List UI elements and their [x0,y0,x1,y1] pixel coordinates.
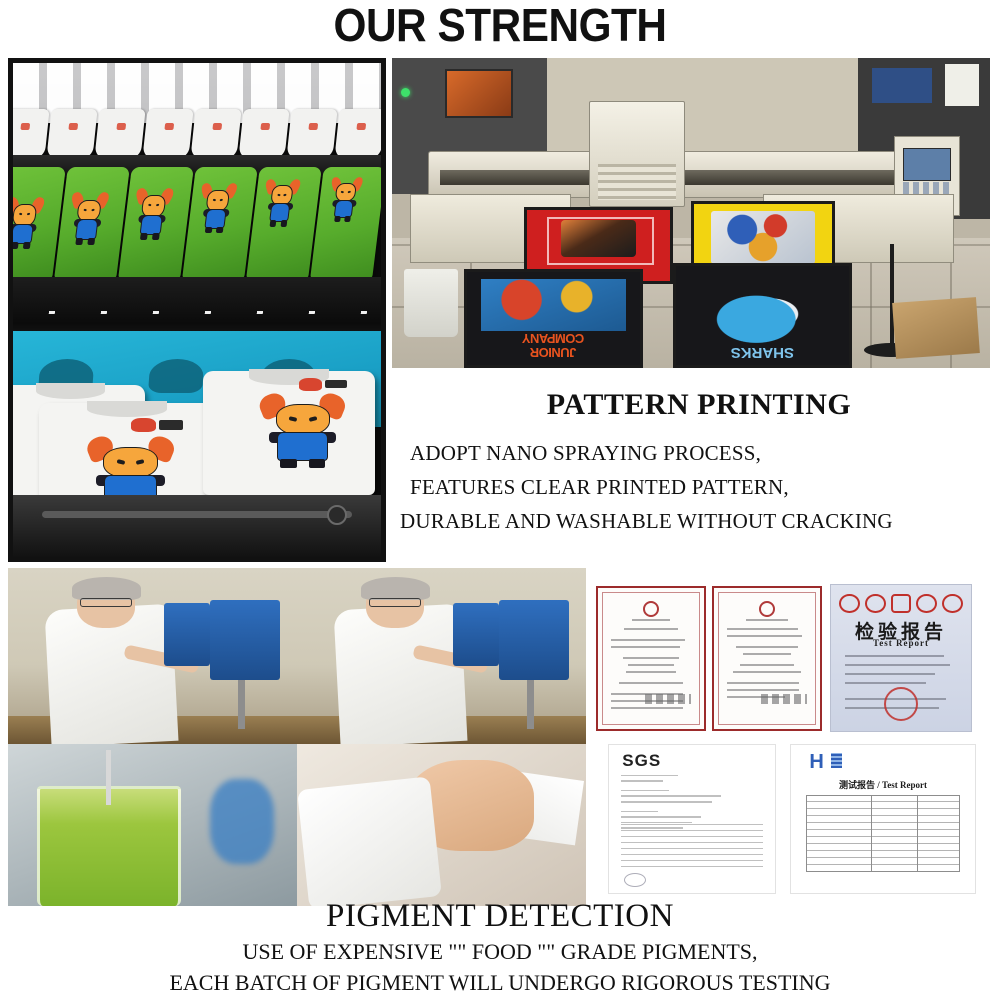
pattern-printing-heading: PATTERN PRINTING [400,388,998,422]
certificate-test-report: 检验报告 Test Report [830,584,972,732]
bull-mascot-icon [135,187,172,236]
certificate-iso-cn [596,586,706,731]
badge-cal-icon [942,594,963,613]
h-report-title: 测试报告 / Test Report [791,778,975,791]
lab-photo-scientist-2 [297,568,586,744]
shirt-white [142,109,193,159]
certificate-h-report: H 测试报告 / Test Report [790,744,976,894]
bull-mascot-icon [265,393,341,462]
platen-junior-company-shirt: JUNIORCOMPANY [464,269,643,368]
photo-shirt-carousel [8,58,386,562]
certificate-sgs-report: SGS [608,744,776,894]
page-header: OUR STRENGTH [0,0,1000,50]
shirt-white-large [203,371,375,495]
badge-cnas-icon [891,594,912,613]
bull-mascot-icon [199,183,235,230]
badge-a-icon [865,594,886,613]
white-shirt-row-front [13,363,381,513]
shirt-white [190,109,241,159]
shirt-green [182,167,258,279]
pigment-detection-line-1: USE OF EXPENSIVE "" FOOD "" GRADE PIGMEN… [0,936,1000,967]
certificate-iso-en [712,586,822,731]
certificate-signature [761,694,808,704]
pigment-detection-line-2: EACH BATCH OF PIGMENT WILL UNDERGO RIGOR… [0,967,1000,998]
shirt-white [13,109,50,159]
pigment-detection-text-block: PIGMENT DETECTION USE OF EXPENSIVE "" FO… [0,896,1000,998]
green-shirt-row [13,167,381,287]
brand-logo-icon [299,378,347,390]
printer-lcd-screen [903,148,951,181]
infographic-page: OUR STRENGTH [0,0,1000,1000]
sgs-results-table [621,819,764,872]
shirt-green [54,167,130,279]
pattern-printing-text-block: PATTERN PRINTING ADOPT NANO SPRAYING PRO… [400,388,998,538]
plastic-bucket [404,269,458,337]
photo-lab-grid [8,568,586,906]
certificate-seal-icon [643,601,659,617]
wall-poster [872,68,933,103]
cardboard-box [892,297,979,359]
shirt-white [94,109,145,159]
lab-photo-fabric-inspection [297,744,586,906]
shirt-green [246,167,322,279]
h-logo: H [809,751,823,774]
shirt-white [46,109,97,159]
photo-flatbed-printer: JUNIORCOMPANY SHARKS [392,58,990,368]
certificate-signature [645,694,692,704]
shirt-white [238,109,289,159]
bull-mascot-icon [70,192,107,241]
h-results-table [806,795,961,872]
printer-rail [440,170,942,186]
report-red-stamp-icon [884,687,918,721]
sgs-logo: SGS [622,751,661,771]
sgs-seal-icon [624,873,646,887]
shirt-white [286,109,337,159]
wall-paper [945,64,979,106]
print-head-carriage [589,101,685,206]
badge-ccc-icon [839,594,860,613]
certificate-seal-icon [759,601,775,617]
junior-company-print-label: JUNIORCOMPANY [477,333,630,359]
certification-badges [839,594,962,613]
bull-mascot-icon [329,176,361,219]
carousel-scene [13,63,381,557]
pattern-printing-line-2: FEATURES CLEAR PRINTED PATTERN, [400,470,998,504]
bull-mascot-icon [264,178,298,223]
brand-logo-icon [131,418,184,432]
shirt-green [118,167,194,279]
pattern-printing-line-1: ADOPT NANO SPRAYING PROCESS, [400,436,998,470]
lab-photo-scientist-1 [8,568,297,744]
page-title: OUR STRENGTH [333,2,666,48]
pattern-printing-line-3: DURABLE AND WASHABLE WITHOUT CRACKING [400,504,998,538]
platen-sharks-shirt: SHARKS [673,263,852,368]
bull-mascot-icon [13,196,42,245]
pigment-detection-heading: PIGMENT DETECTION [0,896,1000,936]
carousel-base-deck [13,495,381,557]
report-title-en: Test Report [831,638,971,648]
shirt-green [310,167,381,279]
badge-cmc-icon [916,594,937,613]
monitor-screen [445,69,513,118]
power-led-icon [401,88,410,97]
shirt-white [334,109,381,159]
sharks-print-label: SHARKS [693,343,832,361]
lab-photo-pigment-beaker [8,744,297,906]
white-shirt-row-top [13,109,381,161]
